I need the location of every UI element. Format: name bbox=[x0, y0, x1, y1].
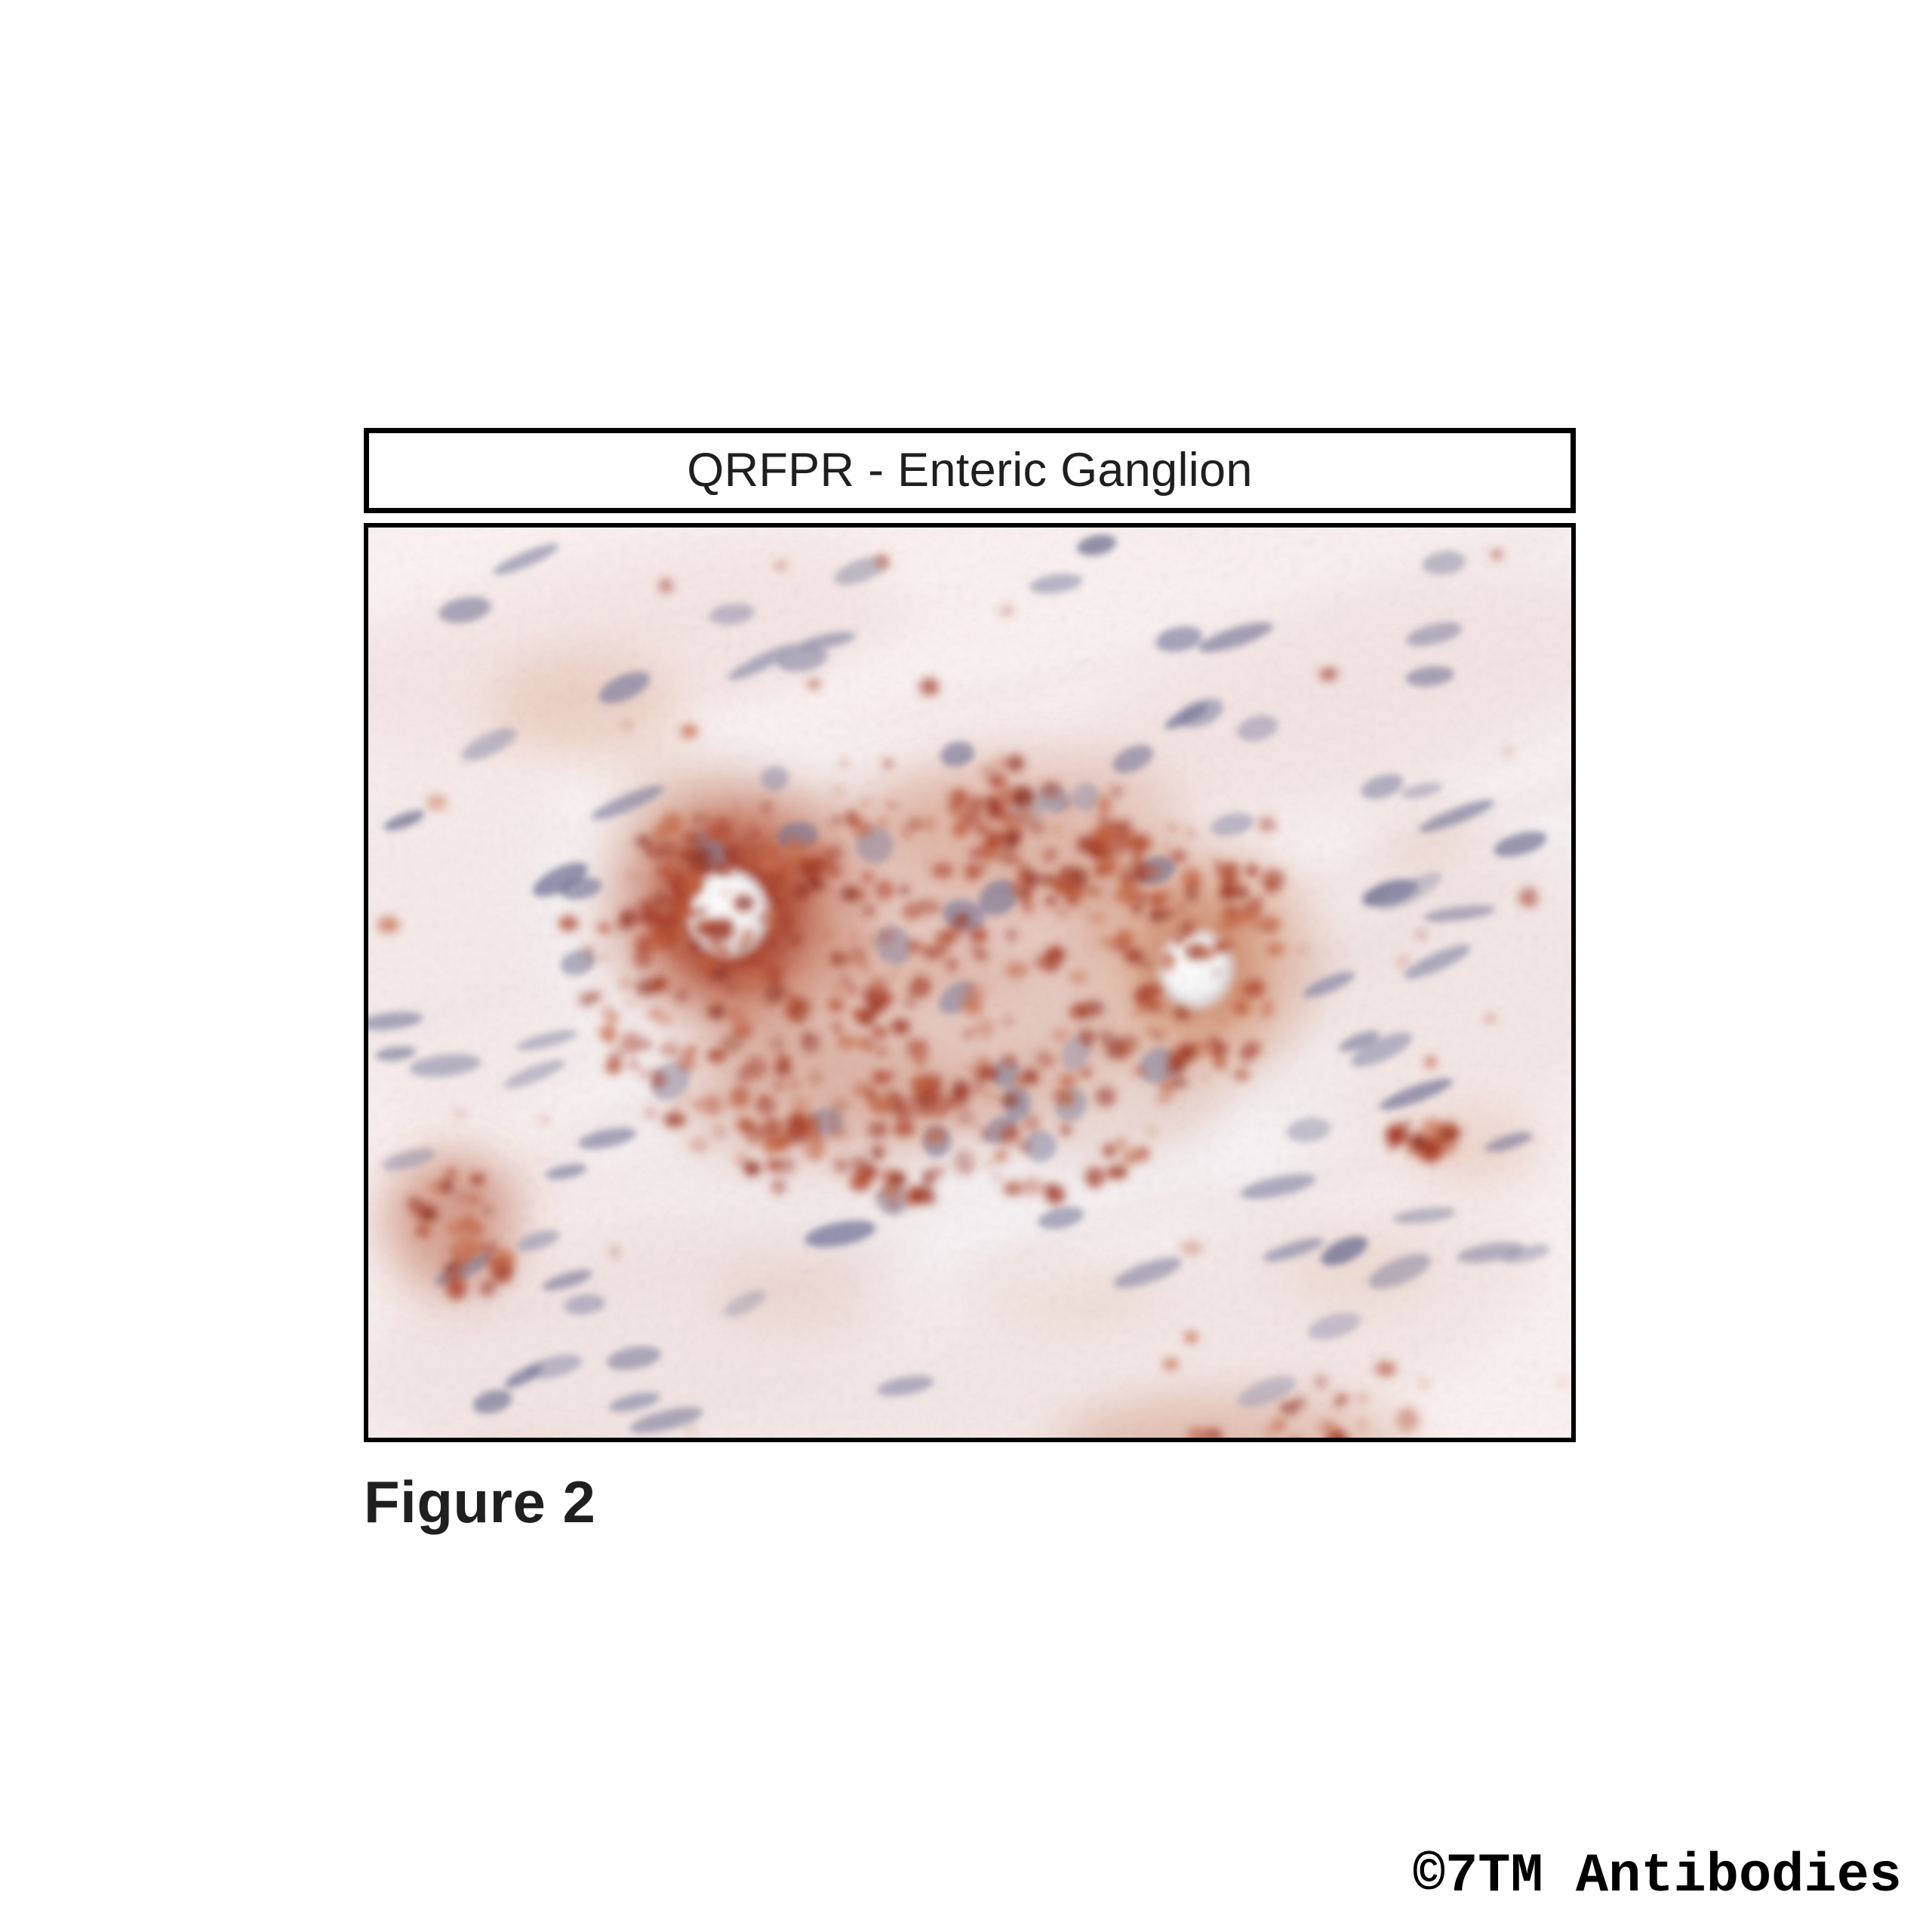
figure-title-bar: QRFPR - Enteric Ganglion bbox=[364, 428, 1576, 513]
copyright-notice: ©7TM Antibodies bbox=[1413, 1849, 1902, 1903]
figure-block: QRFPR - Enteric Ganglion bbox=[364, 428, 1576, 1531]
figure-caption: Figure 2 bbox=[364, 1472, 1576, 1531]
micrograph-panel bbox=[364, 523, 1576, 1442]
histology-micrograph-image bbox=[368, 528, 1571, 1438]
figure-title-text: QRFPR - Enteric Ganglion bbox=[687, 447, 1252, 494]
